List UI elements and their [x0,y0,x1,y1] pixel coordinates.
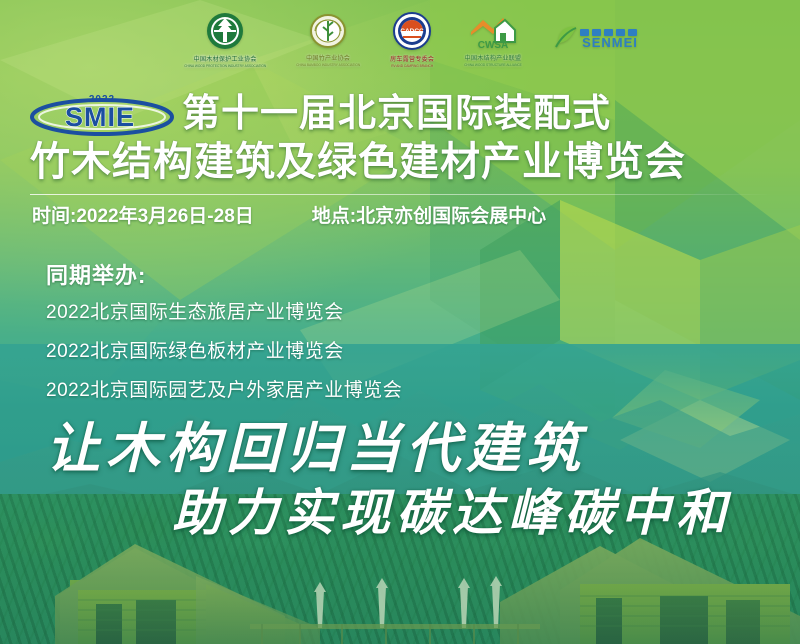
event-meta: 时间:2022年3月26日-28日 地点:北京亦创国际会展中心 [32,205,780,229]
list-item: 2022北京国际园艺及户外家居产业博览会 [46,380,566,402]
logo-cwsa-wood-structure-alliance: CWSA 中国木结构产业联盟 CHINA WOOD STRUCTURE ALLI… [464,12,522,67]
exhibition-poster: 中国木材保护工业协会 CHINA WOOD PROTECTION INDUSTR… [0,0,800,644]
event-date: 时间:2022年3月26日-28日 [32,205,254,229]
logo-bamboo-industry-association: 中国竹产业协会 CHINA BAMBOO INDUSTRY ASSOCIATIO… [296,12,360,67]
title-row: 2022 SMIE 第十一届北京国际装配式 [28,92,780,136]
logo-subcaption: CHINA BAMBOO INDUSTRY ASSOCIATION [296,63,360,67]
logo-caption: 中国木结构产业联盟 [465,56,522,63]
smie-logo: 2022 SMIE [28,92,176,136]
wooden-cabins-illustration [0,524,800,644]
logo-cadcc-rv-camping: CADCC 房车露营专委会 RV AND CAMPING BRANCH [390,11,434,68]
svg-text:SENMEI: SENMEI [582,35,638,50]
slogan-line-1: 让木构回归当代建筑 [46,418,586,480]
logo-caption: 房车露营专委会 [390,57,434,64]
tree-shield-icon [205,11,245,56]
svg-text:SMIE: SMIE [65,102,135,132]
slogan-line-2: 助力实现碳达峰碳中和 [172,484,732,542]
logo-caption: 中国竹产业协会 [306,56,350,63]
svg-text:CADCC: CADCC [400,28,424,35]
title-divider [30,194,772,195]
list-item: 2022北京国际绿色板材产业博览会 [46,341,566,363]
title-line-2: 竹木结构建筑及绿色建材产业博览会 [30,138,780,186]
logo-subcaption: CHINA WOOD STRUCTURE ALLIANCE [464,63,522,67]
house-roof-icon: CWSA [467,12,519,55]
bamboo-seal-icon [309,12,347,55]
logo-subcaption: CHINA WOOD PROTECTION INDUSTRY ASSOCIATI… [184,64,266,68]
sponsor-logo-strip: 中国木材保护工业协会 CHINA WOOD PROTECTION INDUSTR… [0,0,800,78]
concurrent-events-block: 同期举办: 2022北京国际生态旅居产业博览会 2022北京国际绿色板材产业博览… [46,262,566,419]
title-line-1: 第十一届北京国际装配式 [182,92,611,136]
cadcc-roundel-icon: CADCC [392,11,432,56]
concurrent-events-title: 同期举办: [46,262,566,290]
headline-block: 2022 SMIE 第十一届北京国际装配式 竹木结构建筑及绿色建材产业博览会 时… [28,92,780,229]
concurrent-events-list: 2022北京国际生态旅居产业博览会 2022北京国际绿色板材产业博览会 2022… [46,302,566,402]
event-venue: 地点:北京亦创国际会展中心 [312,205,546,229]
logo-china-wood-protection: 中国木材保护工业协会 CHINA WOOD PROTECTION INDUSTR… [184,11,266,68]
svg-text:CWSA: CWSA [478,40,509,50]
logo-caption: 中国木材保护工业协会 [194,57,257,64]
list-item: 2022北京国际生态旅居产业博览会 [46,302,566,324]
logo-subcaption: RV AND CAMPING BRANCH [391,64,433,68]
logo-senmei: SENMEI [552,21,656,57]
leaf-icon: SENMEI [552,21,656,56]
